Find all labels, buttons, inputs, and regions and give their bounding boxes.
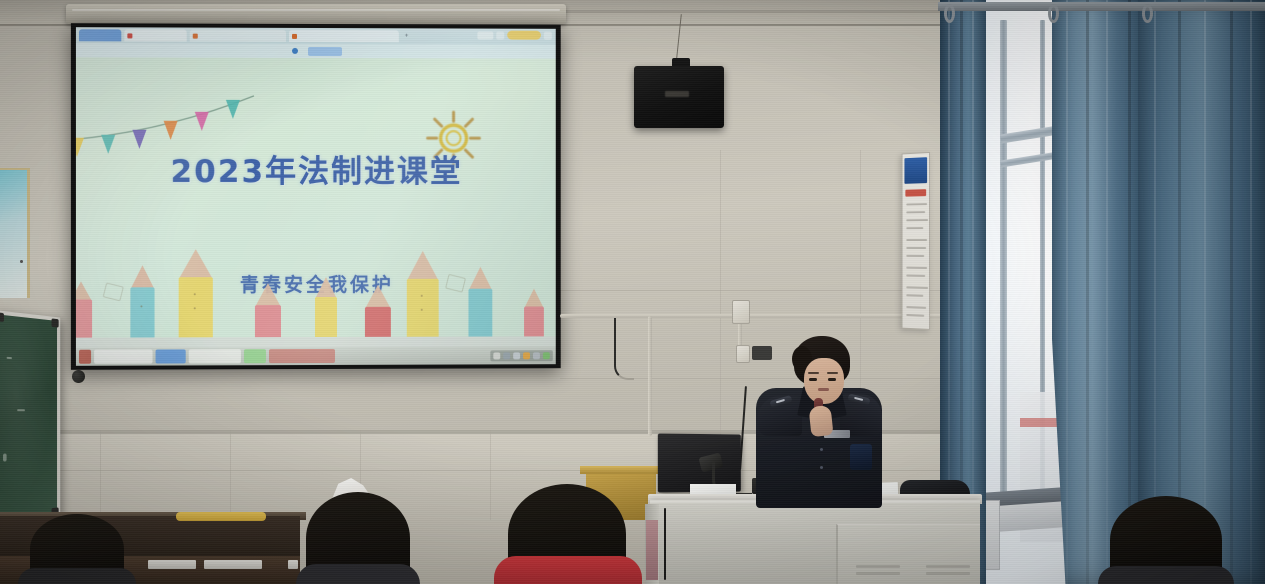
power-cable	[664, 508, 666, 580]
notification-button[interactable]	[308, 46, 342, 55]
wall-conduit	[648, 316, 652, 436]
taskbar-item[interactable]	[244, 349, 266, 363]
board-mount-knob	[72, 370, 85, 383]
tab-favicon-icon	[292, 33, 297, 38]
podium-panel	[836, 524, 980, 584]
browser-tab-3[interactable]	[190, 30, 286, 42]
officer-arm-patch	[850, 444, 872, 470]
slide-title: 2023年法制进课堂	[76, 146, 556, 191]
tray-icon[interactable]	[543, 352, 550, 359]
taskbar-item[interactable]	[269, 349, 335, 363]
browser-tab-4[interactable]	[289, 30, 399, 42]
hanging-cable	[614, 318, 634, 380]
police-officer-presenter	[756, 336, 882, 508]
new-tab-icon[interactable]: +	[405, 33, 409, 39]
tab-favicon-icon	[193, 33, 198, 38]
taskbar-start-icon[interactable]	[79, 350, 91, 364]
tray-icon[interactable]	[523, 352, 530, 359]
wall-seam	[100, 430, 101, 520]
browser-button[interactable]	[496, 31, 504, 39]
tray-icon[interactable]	[503, 352, 510, 359]
wall-molding	[560, 10, 1000, 13]
poster-pin	[20, 260, 23, 263]
desk-papers	[690, 484, 736, 494]
poster-header	[904, 157, 927, 184]
drawer-handle[interactable]	[204, 560, 262, 569]
curtain-rod	[938, 2, 1265, 11]
info-icon	[292, 48, 298, 54]
student-front-center-shirt	[494, 556, 642, 584]
wall-speaker	[634, 66, 724, 128]
os-taskbar	[76, 336, 556, 365]
projection-screen: +	[71, 23, 561, 370]
tray-icon[interactable]	[493, 352, 500, 359]
browser-tab-bar: +	[76, 27, 556, 45]
browser-toolbar-right	[477, 31, 551, 40]
curtain-ring	[1048, 4, 1059, 23]
window-mullion	[1000, 20, 1007, 520]
browser-tab-1[interactable]	[79, 29, 121, 41]
podium-side-book	[646, 520, 658, 580]
wall-seam	[230, 430, 231, 520]
officer-mouth	[818, 388, 829, 391]
tray-icon[interactable]	[513, 352, 520, 359]
curtain-ring	[1142, 4, 1153, 23]
taskbar-item[interactable]	[189, 349, 241, 363]
tray-icon[interactable]	[533, 352, 540, 359]
officer-hand	[808, 405, 833, 437]
browser-account-pill[interactable]	[507, 31, 541, 40]
tab-favicon-icon	[127, 33, 132, 38]
screen-roller-housing	[66, 4, 566, 24]
taskbar-item[interactable]	[94, 350, 152, 364]
wall-seam	[490, 430, 491, 520]
taskbar-row	[76, 346, 556, 366]
taskbar-item[interactable]	[156, 349, 186, 363]
speaker-logo	[665, 91, 689, 97]
wall-outlet[interactable]	[736, 345, 750, 363]
wall-seam	[560, 290, 1000, 291]
officer-face	[804, 358, 844, 404]
pencil-border-decoration	[76, 255, 556, 338]
wall-outlet-box[interactable]	[732, 300, 750, 324]
browser-tab-2[interactable]	[124, 29, 186, 41]
drawer-handle[interactable]	[148, 560, 196, 569]
system-tray	[490, 350, 552, 361]
student-front-right-shirt	[1098, 566, 1234, 584]
side-desk-top	[580, 466, 662, 474]
browser-menu-icon[interactable]	[544, 31, 552, 39]
curtain-middle[interactable]	[1052, 0, 1148, 584]
classroom-photo: +	[0, 0, 1265, 584]
green-chalkboard	[0, 310, 60, 525]
yellow-object	[176, 512, 266, 521]
student-front-far-left-shirt	[18, 568, 136, 584]
browser-button[interactable]	[477, 31, 493, 39]
curtain-ring	[944, 4, 955, 23]
drawer-handle[interactable]	[288, 560, 298, 569]
safety-information-poster	[902, 152, 930, 330]
browser-notification-bar	[76, 43, 556, 58]
poster-title-bar	[905, 189, 926, 197]
left-wall-poster	[0, 168, 30, 298]
presentation-slide: 2023年法制进课堂 青春安全我保护	[76, 57, 556, 337]
student-front-left-shirt	[296, 564, 420, 584]
